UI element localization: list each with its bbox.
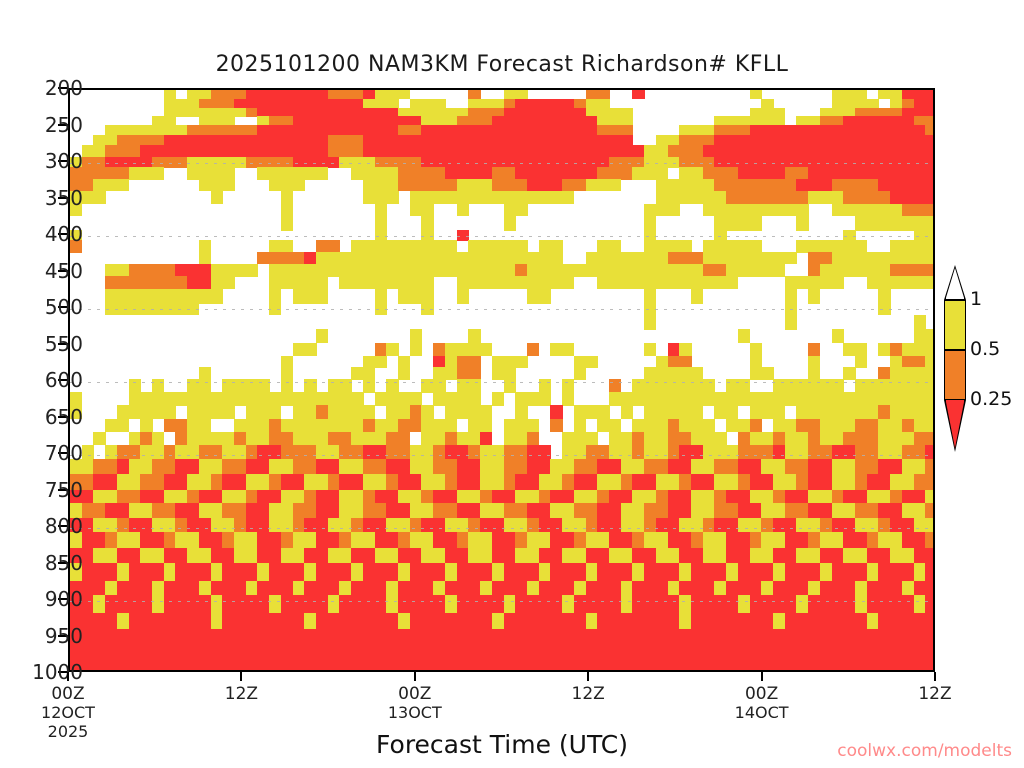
heatmap-cell: [902, 356, 926, 368]
heatmap-cell: [351, 518, 363, 533]
heatmap-cell: [246, 490, 258, 504]
heatmap-cell: [398, 167, 445, 179]
heatmap-cell: [609, 490, 633, 504]
gridline-600: [70, 382, 933, 383]
heatmap-cell: [93, 548, 117, 563]
heatmap-cell: [679, 474, 691, 491]
heatmap-cell: [738, 563, 774, 581]
heatmap-cell: [375, 204, 387, 216]
heatmap-cell: [632, 532, 644, 549]
heatmap-cell: [902, 581, 914, 596]
heatmap-cell: [480, 581, 492, 596]
heatmap-cell: [211, 264, 258, 277]
heatmap-cell: [925, 459, 935, 474]
heatmap-cell: [515, 264, 527, 277]
heatmap-cell: [785, 613, 868, 630]
heatmap-cell: [832, 204, 903, 216]
heatmap-cell: [691, 595, 738, 613]
heatmap-cell: [738, 474, 750, 491]
heatmap-cell: [808, 581, 820, 596]
heatmap-cell: [773, 563, 785, 581]
heatmap-cell: [468, 518, 480, 533]
heatmap-cell: [457, 563, 493, 581]
heatmap-cell: [914, 315, 926, 330]
y-tick-label-250: 250: [45, 115, 83, 135]
heatmap-cell: [597, 613, 680, 630]
heatmap-cell: [351, 367, 375, 379]
heatmap-cell: [398, 581, 434, 596]
heatmap-cell: [386, 432, 410, 446]
heatmap-cell: [902, 532, 926, 549]
x-tick-hour: 12Z: [572, 684, 605, 704]
heatmap-cell: [117, 532, 141, 549]
heatmap-cell: [105, 289, 223, 304]
heatmap-cell: [761, 503, 785, 518]
heatmap-cell: [140, 490, 164, 504]
heatmap-cell: [398, 367, 410, 379]
heatmap-cell: [726, 490, 750, 504]
heatmap-cell: [785, 459, 809, 474]
heatmap-cell: [316, 503, 340, 518]
heatmap-cell: [562, 392, 574, 406]
heatmap-cell: [867, 563, 879, 581]
heatmap-cell: [644, 405, 703, 419]
heatmap-cell: [222, 445, 246, 460]
heatmap-cell: [117, 490, 141, 504]
heatmap-cell: [164, 135, 329, 146]
heatmap-cell: [773, 445, 785, 460]
heatmap-cell: [164, 445, 176, 460]
heatmap-cell: [609, 432, 633, 446]
heatmap-cell: [656, 548, 680, 563]
heatmap-cell: [902, 343, 935, 357]
heatmap-cell: [316, 613, 399, 630]
heatmap-cell: [902, 459, 926, 474]
heatmap-cell: [832, 445, 856, 460]
heatmap-cell: [750, 356, 762, 368]
heatmap-cell: [890, 191, 935, 205]
heatmap-cell: [703, 445, 739, 460]
heatmap-cell: [246, 581, 258, 596]
heatmap-cell: [445, 445, 469, 460]
heatmap-cell: [445, 343, 492, 357]
chart-canvas: 2025101200 NAM3KM Forecast Richardson# K…: [0, 0, 1024, 768]
heatmap-cell: [703, 145, 935, 157]
heatmap-cell: [539, 490, 551, 504]
heatmap-cell: [199, 179, 235, 191]
heatmap-cell: [433, 532, 457, 549]
heatmap-cell: [398, 532, 410, 549]
heatmap-cell: [457, 179, 493, 191]
heatmap-cell: [761, 518, 773, 533]
heatmap-cell: [316, 563, 352, 581]
heatmap-cell: [644, 518, 656, 533]
heatmap-cell: [796, 419, 820, 433]
heatmap-cell: [468, 419, 492, 433]
heatmap-cell: [644, 204, 680, 216]
heatmap-cell: [492, 367, 516, 379]
heatmap-cell: [117, 445, 141, 460]
heatmap-cell: [738, 167, 785, 179]
heatmap-cell: [504, 432, 528, 446]
heatmap-cell: [316, 240, 340, 252]
heatmap-cell: [105, 419, 129, 433]
heatmap-cell: [820, 419, 856, 433]
heatmap-cell: [421, 548, 445, 563]
heatmap-cell: [562, 179, 586, 191]
heatmap-cell: [445, 474, 457, 491]
heatmap-cell: [750, 367, 774, 379]
heatmap-cell: [328, 548, 352, 563]
colorbar-under-fill: [946, 400, 965, 448]
heatmap-cell: [304, 252, 316, 264]
heatmap-cell: [187, 432, 234, 446]
heatmap-cell: [457, 356, 481, 368]
heatmap-cell: [316, 490, 340, 504]
heatmap-cell: [386, 445, 410, 460]
heatmap-cell: [398, 289, 434, 304]
heatmap-cell: [796, 216, 808, 231]
x-tick-label-3: 12Z: [542, 684, 634, 704]
heatmap-cell: [175, 518, 187, 533]
heatmap-cell: [328, 145, 364, 157]
heatmap-cell: [574, 419, 586, 433]
heatmap-cell: [175, 503, 199, 518]
heatmap-cell: [773, 518, 797, 533]
heatmap-cell: [457, 459, 481, 474]
heatmap-cell: [574, 356, 598, 368]
heatmap-cell: [304, 613, 316, 630]
heatmap-cell: [925, 356, 935, 368]
heatmap-cell: [539, 548, 563, 563]
heatmap-cell: [925, 563, 935, 581]
heatmap-cell: [726, 419, 750, 433]
heatmap-cell: [93, 432, 105, 446]
heatmap-cell: [457, 289, 469, 304]
heatmap-cell: [257, 490, 281, 504]
heatmap-cell: [281, 595, 328, 613]
y-tick-label-1000: 1000: [32, 662, 83, 682]
heatmap-cell: [187, 474, 211, 491]
heatmap-cell: [492, 563, 504, 581]
x-tick-hour: 00Z: [51, 684, 84, 704]
heatmap-cell: [339, 490, 363, 504]
heatmap-cell: [691, 474, 715, 491]
heatmap-cell: [515, 405, 527, 419]
heatmap-cell: [93, 474, 117, 491]
heatmap-cell: [398, 179, 457, 191]
heatmap-cell: [410, 613, 493, 630]
heatmap-cell: [550, 343, 574, 357]
heatmap-cell: [363, 518, 387, 533]
colorbar[interactable]: 10.50.25: [944, 300, 966, 450]
heatmap-cell: [445, 595, 457, 613]
gridline-400: [70, 236, 933, 237]
heatmap-cell: [93, 459, 117, 474]
heatmap-cell: [363, 445, 387, 460]
heatmap-cell: [257, 125, 398, 136]
heatmap-cell: [211, 276, 235, 289]
heatmap-cell: [328, 595, 340, 613]
heatmap-cell: [668, 581, 680, 596]
heatmap-cell: [421, 432, 445, 446]
heatmap-cell: [726, 264, 785, 277]
heatmap-cell: [527, 518, 539, 533]
heatmap-cell: [679, 563, 691, 581]
heatmap-cell: [316, 445, 340, 460]
heatmap-cell: [164, 595, 211, 613]
heatmap-cell: [855, 503, 879, 518]
heatmap-cell: [187, 405, 234, 419]
heatmap-cell: [527, 581, 539, 596]
heatmap-cell: [398, 356, 410, 368]
heatmap-cell: [515, 532, 527, 549]
heatmap-cell: [890, 548, 914, 563]
heatmap-cell: [785, 532, 809, 549]
heatmap-cell: [164, 490, 188, 504]
heatmap-cell: [539, 581, 575, 596]
heatmap-cell: [293, 289, 329, 304]
heatmap-cell: [105, 581, 117, 596]
heatmap-cell: [445, 356, 457, 368]
colorbar-segment-0.5: [944, 350, 966, 400]
heatmap-cell: [644, 367, 703, 379]
x-tick-hour: 00Z: [398, 684, 431, 704]
heatmap-cell: [878, 459, 902, 474]
colorbar-over-fill: [946, 268, 965, 299]
heatmap-cell: [187, 548, 211, 563]
heatmap-cell: [855, 518, 879, 533]
heatmap-cell: [925, 532, 935, 549]
heatmap-cell: [164, 532, 176, 549]
heatmap-cell: [597, 503, 621, 518]
heatmap-cell: [843, 367, 855, 379]
heatmap-cell: [714, 179, 797, 191]
heatmap-cell: [820, 432, 844, 446]
heatmap-cell: [726, 563, 738, 581]
heatmap-cell: [691, 503, 715, 518]
heatmap-cell: [644, 432, 668, 446]
heatmap-cell: [808, 289, 820, 304]
heatmap-cell: [363, 474, 387, 491]
heatmap-cell: [750, 419, 762, 433]
heatmap-cell: [738, 445, 774, 460]
heatmap-cell: [855, 445, 879, 460]
heatmap-cell: [187, 167, 234, 179]
heatmap-cell: [914, 474, 935, 491]
heatmap-cell: [750, 532, 762, 549]
heatmap-cell: [410, 405, 422, 419]
heatmap-cell: [574, 503, 598, 518]
heatmap-cell: [586, 613, 598, 630]
heatmap-cell: [445, 563, 457, 581]
heatmap-cell: [644, 240, 691, 252]
heatmap-cell: [679, 613, 691, 630]
heatmap-cell: [328, 474, 340, 491]
heatmap-cell: [621, 595, 633, 613]
heatmap-cell: [890, 343, 902, 357]
heatmap-cell: [257, 532, 281, 549]
heatmap-cell: [621, 474, 633, 491]
y-tick-label-700: 700: [45, 443, 83, 463]
heatmap-cell: [410, 445, 434, 460]
heatmap-cell: [714, 405, 738, 419]
heatmap-cell: [129, 613, 212, 630]
heatmap-cell: [375, 216, 387, 231]
heatmap-cell: [480, 490, 492, 504]
heatmap-cell: [105, 595, 152, 613]
heatmap-cell: [820, 548, 844, 563]
heatmap-cell: [199, 490, 223, 504]
heatmap-cell: [574, 367, 586, 379]
heatmap-cell: [70, 646, 935, 663]
heatmap-cell: [914, 329, 935, 343]
heatmap-cell: [386, 343, 398, 357]
heatmap-cell: [597, 240, 621, 252]
x-tick-date: 13OCT: [369, 704, 461, 723]
heatmap-cell: [527, 289, 551, 304]
heatmap-cell: [257, 548, 281, 563]
heatmap-cell: [750, 474, 774, 491]
heatmap-cell: [855, 356, 867, 368]
heatmap-cell: [586, 518, 598, 533]
heatmap-cell: [304, 581, 340, 596]
heatmap-cell: [293, 405, 317, 419]
heatmap-cell: [621, 503, 645, 518]
heatmap-cell: [632, 90, 644, 99]
y-tick-label-650: 650: [45, 407, 83, 427]
heatmap-cell: [339, 445, 363, 460]
heatmap-cell: [808, 367, 820, 379]
heatmap-cell: [339, 474, 363, 491]
heatmap-cell: [211, 548, 235, 563]
heatmap-cell: [269, 289, 281, 304]
heatmap-cell: [527, 459, 551, 474]
heatmap-cells: [70, 90, 933, 670]
heatmap-cell: [832, 563, 868, 581]
heatmap-cell: [211, 191, 223, 205]
heatmap-cell: [199, 240, 211, 252]
heatmap-cell: [902, 490, 926, 504]
heatmap-cell: [433, 581, 445, 596]
heatmap-cell: [703, 532, 727, 549]
heatmap-cell: [82, 145, 106, 157]
heatmap-cell: [70, 662, 935, 672]
heatmap-cell: [726, 191, 809, 205]
heatmap-cell: [925, 503, 935, 518]
heatmap-cell: [410, 343, 422, 357]
colorbar-segment-1: [944, 300, 966, 350]
heatmap-cell: [785, 289, 797, 304]
heatmap-cell: [328, 518, 352, 533]
heatmap-cell: [164, 581, 200, 596]
heatmap-cell: [820, 532, 844, 549]
heatmap-cell: [574, 405, 610, 419]
heatmap-cell: [867, 581, 903, 596]
heatmap-cell: [761, 532, 785, 549]
heatmap-cell: [257, 445, 281, 460]
heatmap-cell: [808, 356, 820, 368]
heatmap-cell: [832, 474, 856, 491]
heatmap-cell: [785, 167, 809, 179]
heatmap-cell: [504, 503, 528, 518]
heatmap-cell: [644, 216, 656, 231]
heatmap-cell: [363, 563, 399, 581]
heatmap-cell: [234, 518, 246, 533]
heatmap-cell: [117, 563, 129, 581]
y-tick-label-800: 800: [45, 516, 83, 536]
heatmap-cell: [890, 356, 902, 368]
heatmap-cell: [820, 264, 891, 277]
heatmap-cell: [726, 548, 750, 563]
x-tick-mark: [761, 672, 763, 681]
heatmap-cell: [750, 595, 797, 613]
heatmap-cell: [386, 503, 410, 518]
heatmap-cell: [586, 548, 610, 563]
heatmap-cell: [738, 503, 762, 518]
heatmap-cell: [714, 490, 726, 504]
heatmap-cell: [82, 532, 106, 549]
heatmap-cell: [351, 548, 375, 563]
heatmap-cell: [890, 518, 914, 533]
heatmap-cell: [668, 356, 692, 368]
heatmap-cell: [375, 490, 399, 504]
heatmap-cell: [679, 548, 703, 563]
heatmap-cell: [679, 595, 691, 613]
heatmap-cell: [246, 518, 270, 533]
heatmap-cell: [796, 179, 832, 191]
heatmap-cell: [832, 329, 844, 343]
heatmap-cell: [421, 474, 445, 491]
heatmap-cell: [597, 518, 621, 533]
heatmap-cell: [410, 459, 434, 474]
heatmap-cell: [222, 503, 246, 518]
heatmap-cell: [750, 125, 926, 136]
heatmap-cell: [433, 490, 457, 504]
heatmap-cell: [293, 459, 317, 474]
heatmap-cell: [527, 343, 539, 357]
heatmap-cell: [269, 276, 328, 289]
x-tick-mark: [67, 672, 69, 681]
heatmap-cell: [468, 329, 480, 343]
heatmap-cell: [808, 432, 820, 446]
heatmap-cell: [211, 518, 235, 533]
x-tick-date: 12OCT: [22, 704, 114, 723]
heatmap-cell: [691, 532, 703, 549]
heatmap-cell: [445, 167, 492, 179]
heatmap-cell: [867, 474, 891, 491]
heatmap-cell: [527, 179, 563, 191]
heatmap-cell: [597, 125, 633, 136]
heatmap-cell: [504, 204, 528, 216]
heatmap-cell: [504, 474, 516, 491]
heatmap-cell: [504, 518, 528, 533]
heatmap-cell: [597, 474, 621, 491]
heatmap-cell: [363, 490, 375, 504]
heatmap-cell: [421, 490, 433, 504]
heatmap-cell: [222, 474, 246, 491]
heatmap-cell: [714, 518, 738, 533]
heatmap-cell: [316, 329, 328, 343]
heatmap-cell: [222, 613, 305, 630]
heatmap-cell: [504, 613, 587, 630]
heatmap-cell: [796, 405, 879, 419]
heatmap-cell: [668, 432, 692, 446]
heatmap-cell: [433, 392, 480, 406]
heatmap-cell: [586, 563, 598, 581]
heatmap-cell: [808, 459, 832, 474]
heatmap-cell: [679, 125, 715, 136]
